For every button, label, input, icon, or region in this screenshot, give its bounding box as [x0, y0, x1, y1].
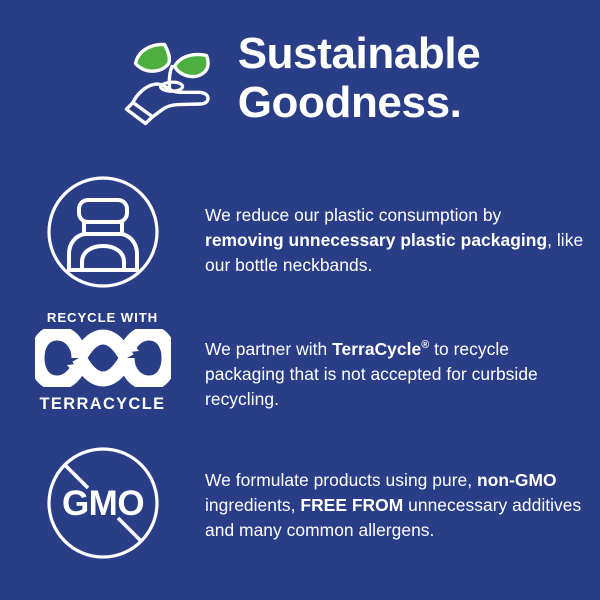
sustainability-infographic: Sustainable Goodness. We reduce our pl [0, 0, 600, 600]
terracycle-logo: RECYCLE WITH R [34, 310, 172, 414]
icon-cell: RECYCLE WITH R [0, 308, 205, 414]
infinity-recycle-arrows-icon: R [35, 329, 171, 392]
terracycle-top-label: RECYCLE WITH [47, 310, 158, 325]
feature-row-terracycle: RECYCLE WITH R [0, 308, 600, 429]
feature-text-plastic: We reduce our plastic consumption by rem… [205, 203, 584, 277]
feature-text-terracycle: We partner with TerraCycle® to recycle p… [205, 337, 584, 411]
feature-text-gmo: We formulate products using pure, non-GM… [205, 468, 584, 542]
text-cell: We partner with TerraCycle® to recycle p… [205, 308, 600, 429]
page-title: Sustainable Goodness. [238, 29, 481, 128]
feature-row-plastic: We reduce our plastic consumption by rem… [0, 172, 600, 295]
hand-holding-sprout-icon [120, 26, 224, 130]
header: Sustainable Goodness. [0, 26, 600, 130]
terracycle-bottom-label: TERRACYCLE [39, 395, 165, 414]
svg-text:R: R [160, 378, 165, 384]
text-cell: We formulate products using pure, non-GM… [205, 443, 600, 560]
icon-cell: GMO [0, 443, 205, 561]
feature-row-gmo: GMO We formulate products using pure, no… [0, 443, 600, 561]
icon-cell [0, 172, 205, 290]
no-gmo-icon: GMO [45, 445, 161, 561]
gmo-icon-label: GMO [61, 484, 143, 523]
plastic-bottle-icon [45, 174, 161, 290]
text-cell: We reduce our plastic consumption by rem… [205, 172, 600, 295]
